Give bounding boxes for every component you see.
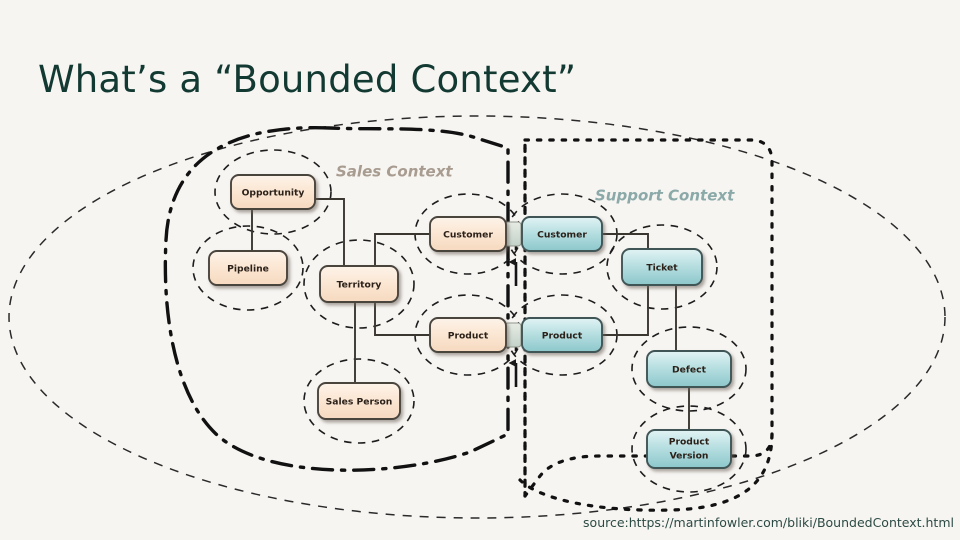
node-territory[interactable]: Territory (320, 266, 398, 302)
node-sales-person[interactable]: Sales Person (318, 383, 400, 419)
edge-territory-product (375, 302, 430, 335)
node-pipeline[interactable]: Pipeline (209, 251, 287, 285)
node-support-product[interactable]: Product (522, 318, 602, 352)
support-context-label: Support Context (595, 187, 735, 205)
node-opportunity[interactable]: Opportunity (231, 175, 315, 209)
edge-opportunity-territory (315, 199, 344, 266)
bounded-context-diagram: Sales Context Support Context Opportunit… (0, 104, 960, 540)
slide-canvas: What’s a “Bounded Context” (0, 0, 960, 540)
unified-model-ellipse (9, 116, 945, 518)
edge-supcustomer-ticket (602, 234, 648, 249)
source-attribution: source:https://martinfowler.com/bliki/Bo… (583, 515, 954, 530)
node-defect[interactable]: Defect (647, 351, 731, 387)
shared-link-customer (505, 222, 521, 246)
node-ticket[interactable]: Ticket (622, 249, 702, 285)
edge-territory-customer (375, 234, 430, 266)
page-title: What’s a “Bounded Context” (38, 58, 576, 101)
node-support-customer[interactable]: Customer (522, 217, 602, 251)
edge-supproduct-ticket (602, 285, 648, 335)
node-sales-customer[interactable]: Customer (430, 217, 506, 251)
support-context-boundary-curve (520, 434, 772, 510)
node-product-version[interactable]: Product Version (647, 430, 731, 468)
sales-context-label: Sales Context (336, 163, 453, 181)
shared-link-product (505, 323, 521, 347)
node-sales-product[interactable]: Product (430, 318, 506, 352)
